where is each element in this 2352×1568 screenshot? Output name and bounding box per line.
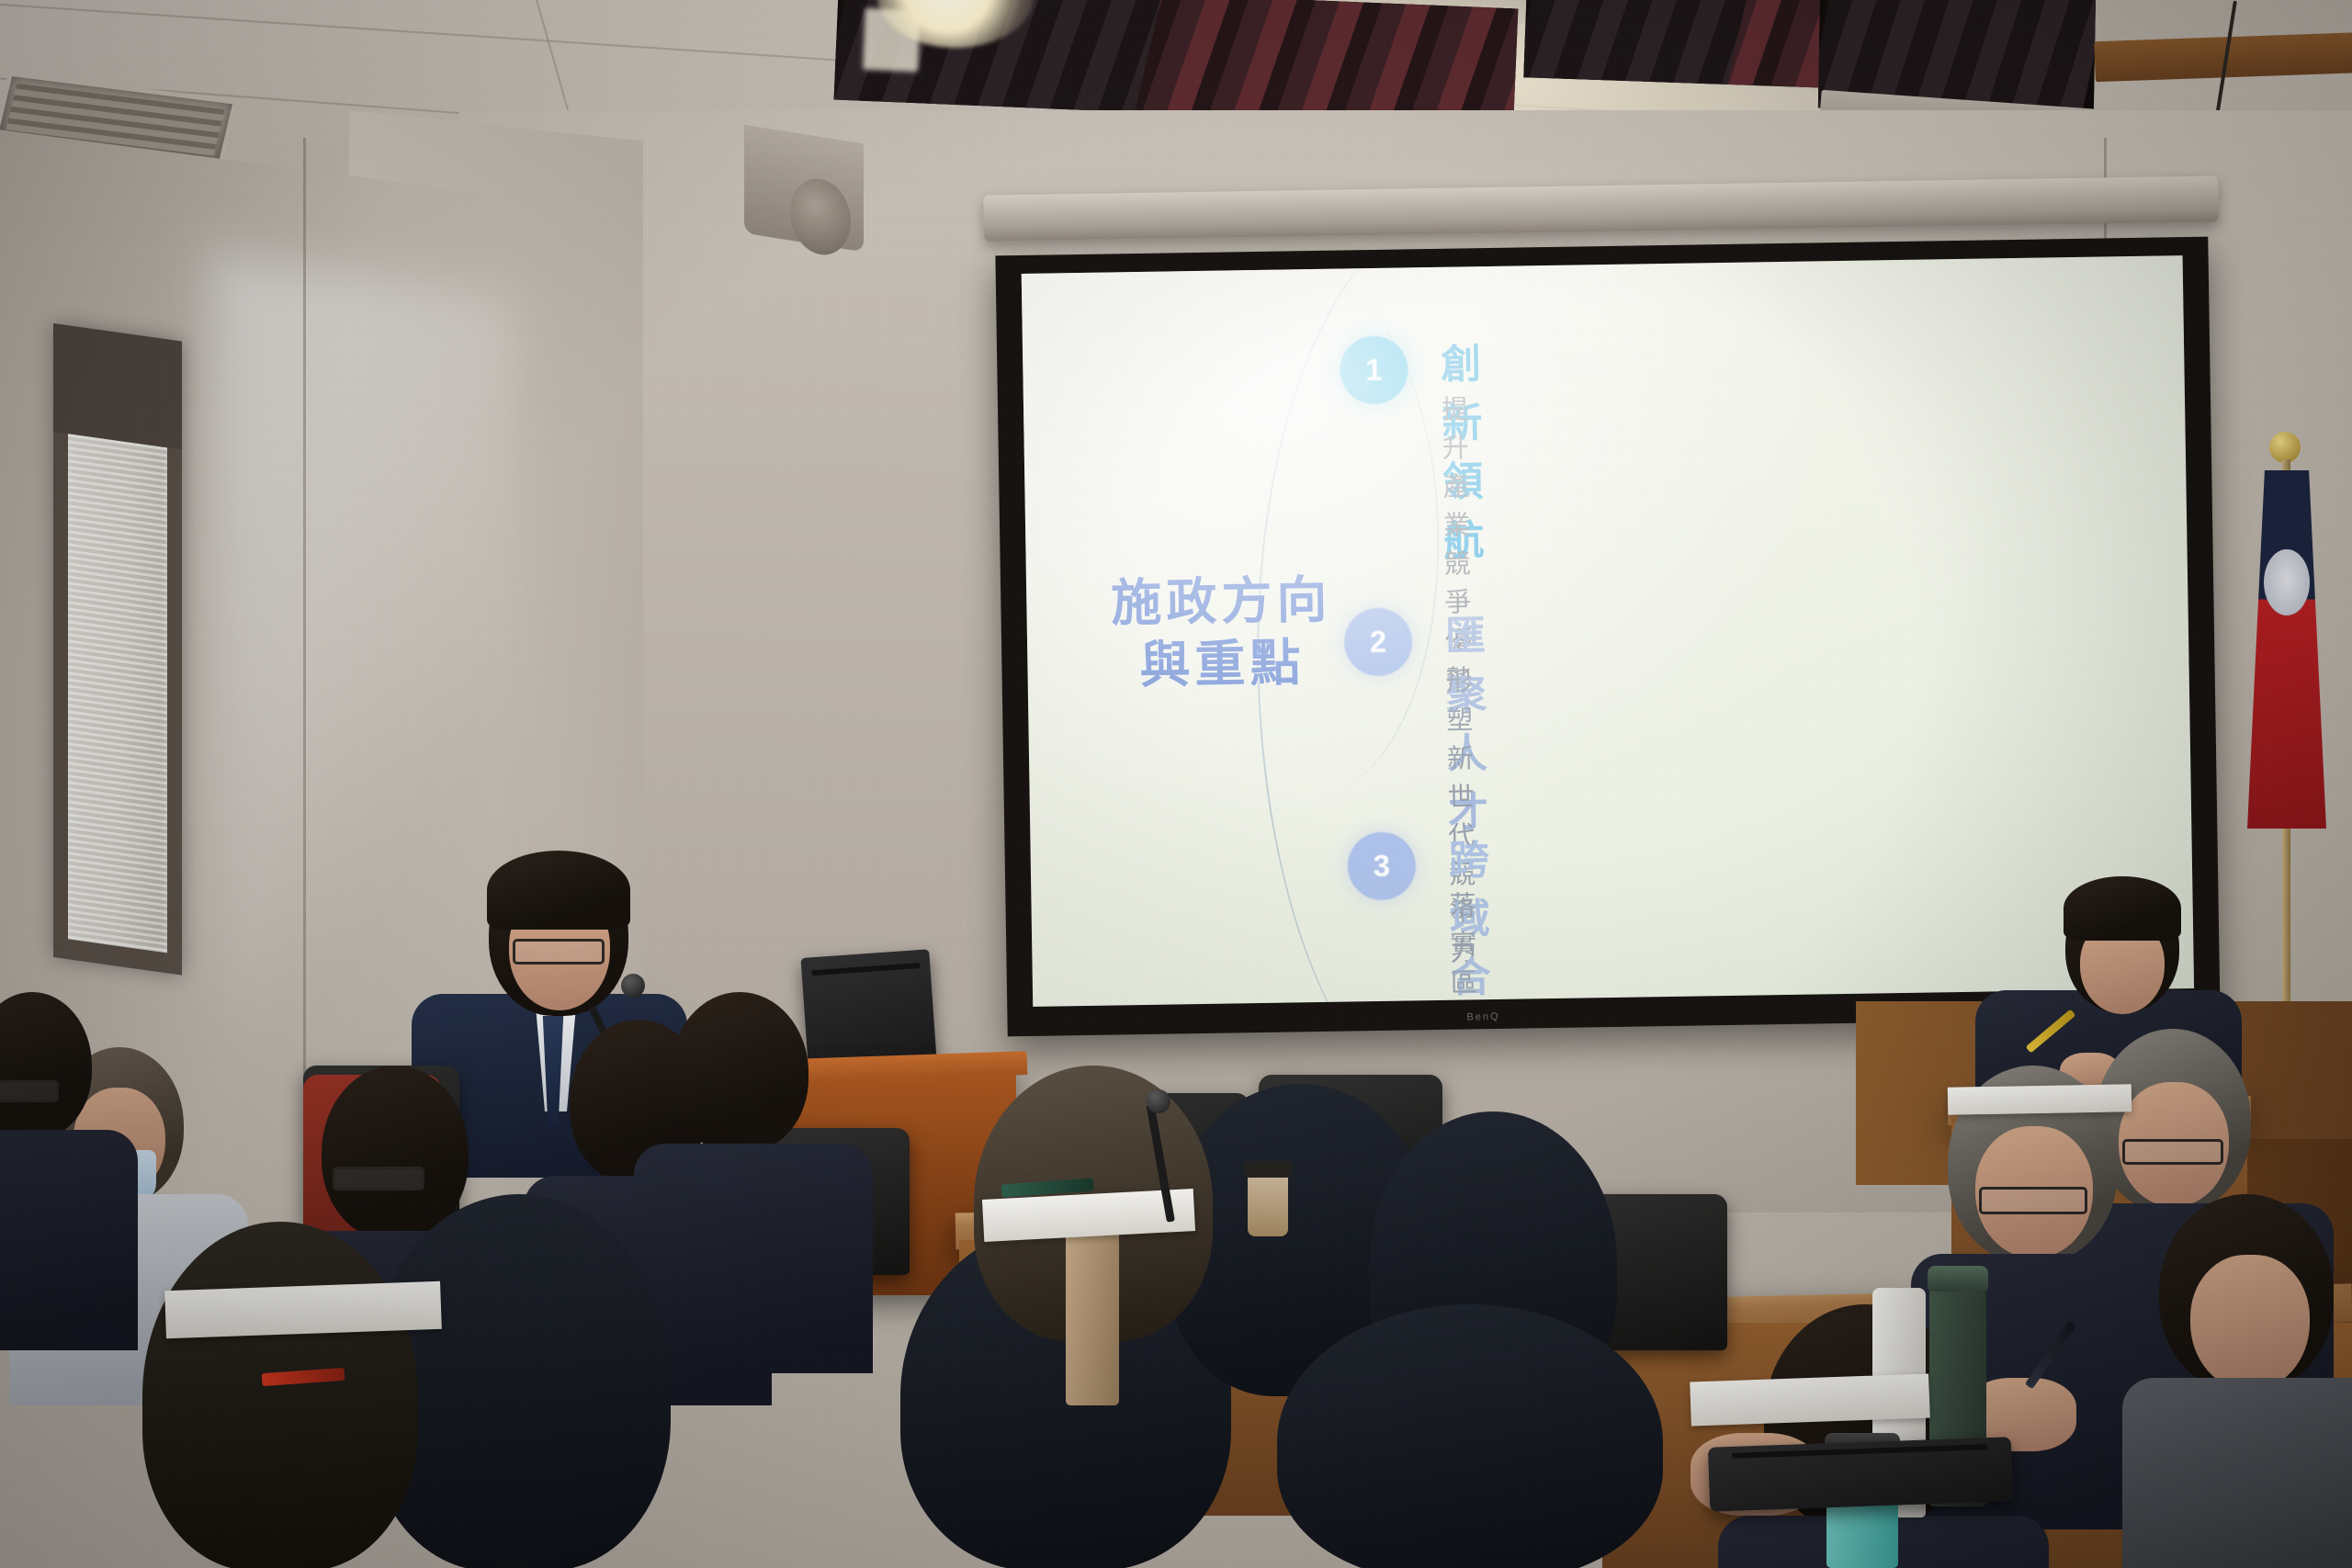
- slide-title: 施政方向 與重點: [1083, 568, 1361, 697]
- attendee-glasses-icon: [1979, 1187, 2087, 1214]
- pillar-3-subtitle: 落實區域均衡發展: [1449, 884, 1485, 1007]
- upper-gallery-right: [1523, 0, 1829, 88]
- attendee-glasses-icon: [0, 1080, 59, 1102]
- left-window: [53, 323, 182, 976]
- desk-tablet: [1708, 1437, 2013, 1511]
- wall-seam: [303, 138, 306, 1222]
- attendee-torso: [634, 1144, 873, 1373]
- dark-green-thermos-cap: [1928, 1266, 1988, 1292]
- speaker-hair: [487, 851, 630, 930]
- paper-documents: [164, 1281, 442, 1338]
- attendee-head: [322, 1066, 469, 1240]
- paper-documents: [1948, 1084, 2131, 1114]
- flag-sun-emblem-icon: [2264, 549, 2310, 615]
- official-hair: [2064, 876, 2181, 941]
- attendee-torso: [2122, 1378, 2352, 1568]
- attendee-head-foreground: [142, 1222, 418, 1568]
- attendee-glasses-icon: [333, 1167, 424, 1190]
- attendee-head-foreground: [1277, 1304, 1663, 1568]
- tan-thermos: [1066, 1213, 1119, 1405]
- slide-title-line2: 與重點: [1084, 630, 1361, 697]
- slide-title-line1: 施政方向: [1083, 568, 1360, 635]
- attendee-torso: [0, 1130, 138, 1350]
- desk-microphone-head-icon: [1147, 1089, 1170, 1113]
- coffee-cup: [1248, 1170, 1288, 1236]
- hearing-room-photo: BenQ 施政方向 與重點 1 創新領航 提升產業競爭優勢: [0, 0, 2352, 1568]
- attendee-glasses-icon: [2122, 1139, 2223, 1165]
- coffee-cup-lid: [1244, 1161, 1292, 1178]
- attendee-face: [2190, 1255, 2310, 1391]
- speaker-glasses-icon: [513, 939, 605, 964]
- flagpole-finial-icon: [2269, 432, 2301, 463]
- podium-microphone-head-icon: [621, 974, 645, 998]
- window-blinds: [68, 434, 167, 953]
- screen-brand-label: BenQ: [1466, 1011, 1499, 1023]
- window-header: [53, 323, 182, 450]
- paper-documents: [1690, 1373, 1930, 1426]
- attendee-head: [671, 992, 808, 1153]
